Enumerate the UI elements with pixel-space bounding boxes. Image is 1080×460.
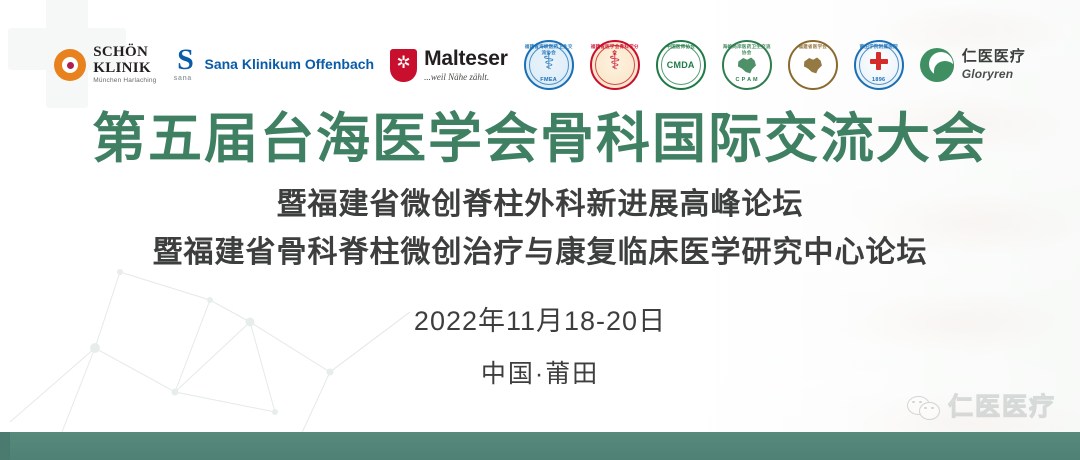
bottom-green-bar [0, 432, 1080, 460]
seal-fujian-icon: 福建省医学会 [788, 40, 838, 90]
seal-fujian-arc-text: 福建省医学会 [788, 44, 838, 50]
logo-seal-hospital: 莆田学院附属医院 1896 [854, 37, 904, 93]
gloryren-name-en: Gloryren [962, 67, 1026, 81]
wechat-watermark: 仁医医疗 [907, 395, 1056, 420]
seal-cpam-abbr: C P A M [722, 77, 772, 83]
seal-cpam-icon: 海峡两岸医药卫生交流协会 C P A M [722, 40, 772, 90]
seal-cmda-icon: 中国医师协会 CMDA [656, 40, 706, 90]
bottom-bar-left-accent [0, 432, 10, 460]
seal-cmda-arc-text: 中国医师协会 [656, 44, 706, 50]
schoen-klinik-line1: SCHÖN [93, 45, 156, 60]
sponsor-logo-strip: SCHÖN KLINIK München Harlaching S sana S… [0, 34, 1080, 96]
logo-malteser: Malteser ...weil Nähe zählt. [390, 37, 508, 93]
conference-banner: SCHÖN KLINIK München Harlaching S sana S… [0, 0, 1080, 460]
schoen-klinik-icon [54, 49, 86, 81]
seal-hospital-abbr: 1896 [854, 77, 904, 83]
logo-seal-blue-fmda: 福建省海峡医药卫生交流协会 ⚕ FMEA [524, 37, 574, 93]
seal-cpam-arc-text: 海峡两岸医药卫生交流协会 [722, 44, 772, 56]
logo-seal-cpam: 海峡两岸医药卫生交流协会 C P A M [722, 37, 772, 93]
gloryren-name-cn: 仁医医疗 [962, 49, 1026, 66]
logo-sana-klinikum-offenbach: S sana Sana Klinikum Offenbach [172, 37, 374, 93]
asclepius-rod-icon: ⚕ [543, 51, 555, 73]
sana-klinikum-name: Sana Klinikum Offenbach [204, 56, 374, 73]
seal-red-icon: 福建省医学会骨科学分会 ⚕ [590, 40, 640, 90]
malteser-tagline: ...weil Nähe zählt. [424, 72, 508, 82]
seal-blue-icon: 福建省海峡医药卫生交流协会 ⚕ FMEA [524, 40, 574, 90]
seal-cmda-abbr: CMDA [667, 61, 695, 70]
schoen-klinik-line2: KLINIK [93, 61, 156, 76]
logo-seal-red-orthopaedics: 福建省医学会骨科学分会 ⚕ [590, 37, 640, 93]
red-cross-icon [870, 52, 888, 70]
logo-seal-fujian-medical: 福建省医学会 [788, 37, 838, 93]
malteser-name: Malteser [424, 48, 508, 69]
gloryren-swirl-icon [920, 48, 954, 82]
conference-date: 2022年11月18-20日 [0, 308, 1080, 335]
conference-subtitle-1: 暨福建省微创脊柱外科新进展高峰论坛 [0, 190, 1080, 220]
seal-hospital-icon: 莆田学院附属医院 1896 [854, 40, 904, 90]
conference-subtitle-2: 暨福建省骨科脊柱微创治疗与康复临床医学研究中心论坛 [0, 238, 1080, 268]
sana-mark-letter: S [172, 46, 198, 73]
logo-seal-cmda: 中国医师协会 CMDA [656, 37, 706, 93]
schoen-klinik-line3: München Harlaching [93, 78, 156, 85]
asclepius-rod-icon: ⚕ [609, 51, 621, 73]
watermark-text: 仁医医疗 [948, 395, 1056, 420]
seal-blue-abbr: FMEA [524, 77, 574, 83]
conference-location: 中国·莆田 [0, 362, 1080, 387]
logo-gloryren: 仁医医疗 Gloryren [920, 37, 1026, 93]
network-pattern-decoration [0, 252, 420, 442]
sana-icon: S sana [172, 46, 198, 84]
logo-schoen-klinik: SCHÖN KLINIK München Harlaching [54, 37, 156, 93]
conference-main-title: 第五届台海医学会骨科国际交流大会 [0, 112, 1080, 166]
malteser-shield-icon [390, 49, 417, 82]
seal-hospital-arc-text: 莆田学院附属医院 [854, 44, 904, 50]
wechat-icon [907, 396, 941, 420]
sana-mark-caption: sana [173, 75, 191, 82]
